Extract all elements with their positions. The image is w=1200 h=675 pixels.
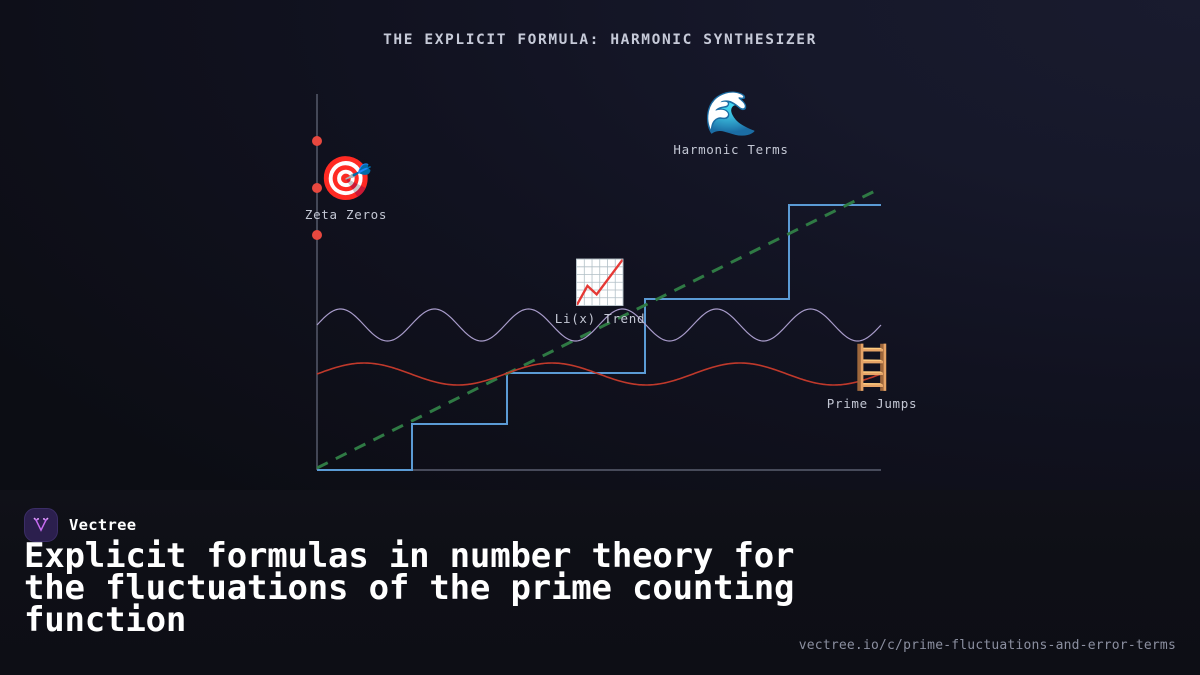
chart-plot xyxy=(0,0,1200,500)
ladder-icon: 🪜 xyxy=(772,347,972,390)
zeta-zero-marker xyxy=(312,136,322,146)
annotation-zeta-zeros: 🎯 Zeta Zeros xyxy=(246,158,446,222)
annotation-label: Prime Jumps xyxy=(772,396,972,411)
series-step xyxy=(317,205,881,470)
brand-name: Vectree xyxy=(69,516,136,534)
wave-icon: 🌊 xyxy=(631,93,831,136)
annotation-label: Zeta Zeros xyxy=(246,207,446,222)
chart-increasing-icon: 📈 xyxy=(500,262,700,305)
annotation-label: Li(x) Trend xyxy=(500,311,700,326)
target-icon: 🎯 xyxy=(246,158,446,201)
page-headline: Explicit formulas in number theory for t… xyxy=(24,540,844,636)
footer-url: vectree.io/c/prime-fluctuations-and-erro… xyxy=(799,638,1176,653)
annotation-label: Harmonic Terms xyxy=(631,142,831,157)
series-dashed-line xyxy=(317,188,881,468)
annotation-li-trend: 📈 Li(x) Trend xyxy=(500,262,700,326)
annotation-harmonic-terms: 🌊 Harmonic Terms xyxy=(631,93,831,157)
zeta-zero-marker xyxy=(312,230,322,240)
annotation-prime-jumps: 🪜 Prime Jumps xyxy=(772,347,972,411)
footer: Vectree Explicit formulas in number theo… xyxy=(0,490,1200,675)
